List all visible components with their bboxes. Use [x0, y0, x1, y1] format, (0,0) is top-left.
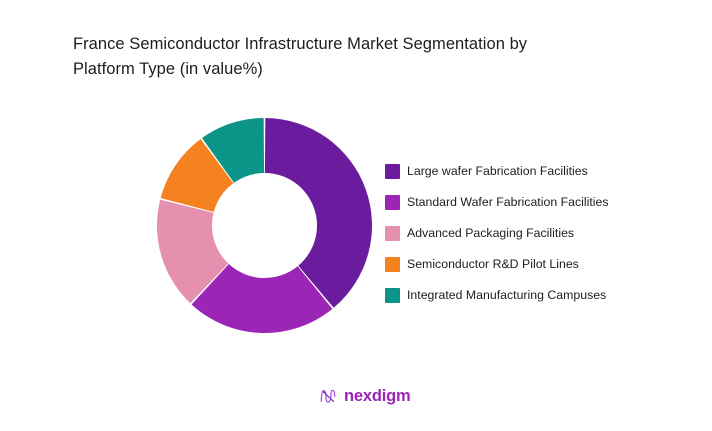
- chart-page: France Semiconductor Infrastructure Mark…: [0, 0, 712, 431]
- legend-swatch-icon: [385, 288, 400, 303]
- legend-swatch-icon: [385, 195, 400, 210]
- chart-legend: Large wafer Fabrication FacilitiesStanda…: [385, 156, 685, 311]
- legend-item[interactable]: Semiconductor R&D Pilot Lines: [385, 249, 685, 280]
- donut-chart-svg: Large wafer Fabrication Facilities: 39%S…: [157, 118, 372, 333]
- legend-item-label: Semiconductor R&D Pilot Lines: [407, 257, 579, 272]
- donut-slice-group: Large wafer Fabrication Facilities: 39%S…: [157, 118, 372, 333]
- legend-item-label: Advanced Packaging Facilities: [407, 226, 574, 241]
- legend-item[interactable]: Advanced Packaging Facilities: [385, 218, 685, 249]
- legend-swatch-icon: [385, 257, 400, 272]
- legend-item[interactable]: Large wafer Fabrication Facilities: [385, 156, 685, 187]
- legend-swatch-icon: [385, 164, 400, 179]
- donut-chart: Large wafer Fabrication Facilities: 39%S…: [157, 118, 372, 333]
- legend-item-label: Large wafer Fabrication Facilities: [407, 164, 588, 179]
- legend-item[interactable]: Integrated Manufacturing Campuses: [385, 280, 685, 311]
- nexdigm-n-mark-icon: [318, 386, 338, 406]
- brand-name: nexdigm: [344, 386, 410, 406]
- legend-item[interactable]: Standard Wafer Fabrication Facilities: [385, 187, 685, 218]
- legend-item-label: Standard Wafer Fabrication Facilities: [407, 195, 609, 210]
- page-title: France Semiconductor Infrastructure Mark…: [73, 32, 633, 82]
- legend-swatch-icon: [385, 226, 400, 241]
- brand-logo: nexdigm: [318, 385, 410, 407]
- legend-item-label: Integrated Manufacturing Campuses: [407, 288, 606, 303]
